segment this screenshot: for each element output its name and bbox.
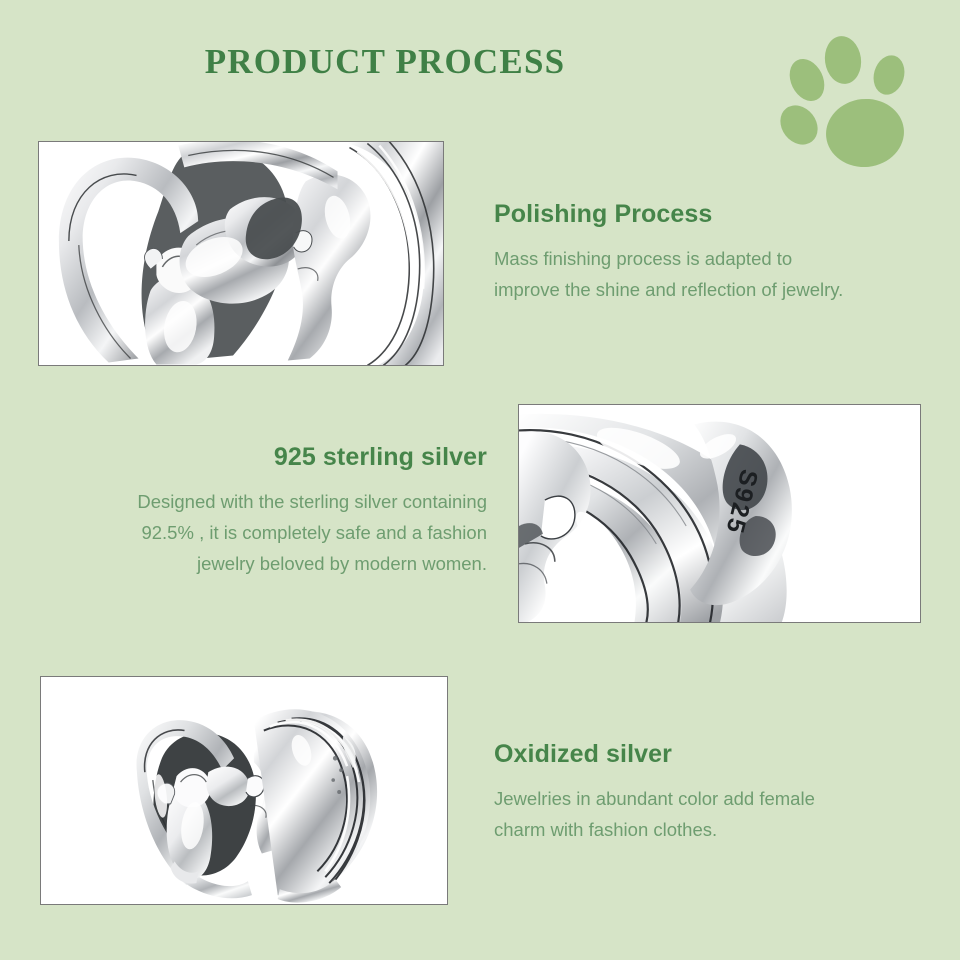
product-image-oxidized-canvas [41,677,447,904]
section-body-polishing: Mass finishing process is adapted to imp… [494,243,944,305]
section-text-sterling: 925 sterling silver Designed with the st… [37,443,487,579]
section-heading-polishing: Polishing Process [494,200,944,229]
section-text-oxidized: Oxidized silver Jewelries in abundant co… [494,740,944,845]
paw-print-icon [772,28,932,178]
section-heading-oxidized: Oxidized silver [494,740,944,769]
body-line: improve the shine and reflection of jewe… [494,274,944,305]
section-body-oxidized: Jewelries in abundant color add female c… [494,783,944,845]
body-line: Jewelries in abundant color add female [494,783,944,814]
body-line: charm with fashion clothes. [494,814,944,845]
product-image-polishing [38,141,444,366]
section-heading-sterling: 925 sterling silver [37,443,487,472]
body-line: Mass finishing process is adapted to [494,243,944,274]
product-image-oxidized [40,676,448,905]
product-image-sterling-canvas: S925 [519,405,920,622]
body-line: jewelry beloved by modern women. [37,548,487,579]
section-body-sterling: Designed with the sterling silver contai… [37,486,487,579]
product-image-polishing-canvas [39,142,443,365]
body-line: Designed with the sterling silver contai… [37,486,487,517]
product-image-sterling: S925 [518,404,921,623]
body-line: 92.5% , it is completely safe and a fash… [37,517,487,548]
section-text-polishing: Polishing Process Mass finishing process… [494,200,944,305]
